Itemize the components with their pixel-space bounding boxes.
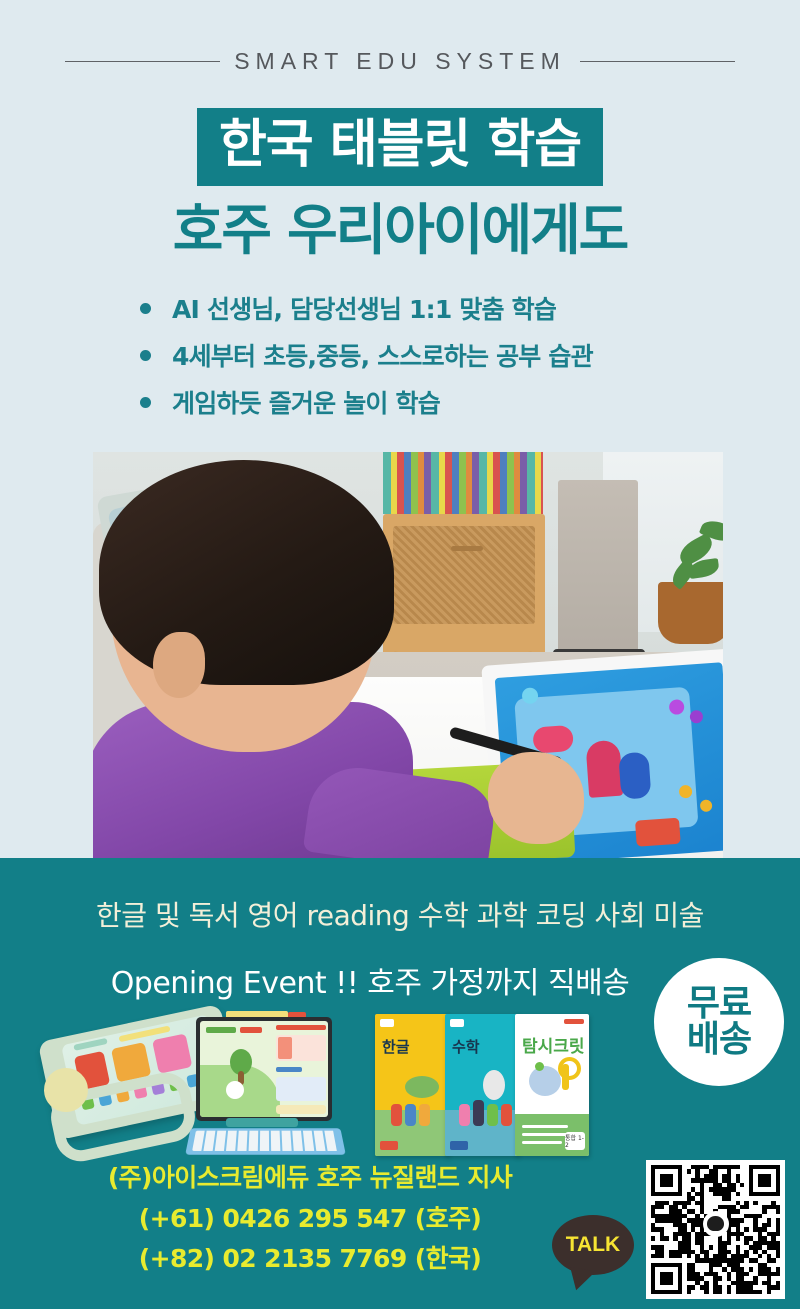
- photo-tablet-dot: [700, 799, 713, 812]
- bullet-dot-icon: [140, 397, 151, 408]
- photo-tablet-shape: [532, 725, 574, 754]
- workbook-title: 탐시크릿: [522, 1032, 585, 1057]
- workbook-kid: [405, 1104, 416, 1126]
- photo-plant-pot: [658, 582, 723, 644]
- keyboard-keys: [192, 1131, 339, 1151]
- eyebrow-text: SMART EDU SYSTEM: [234, 48, 566, 75]
- kakaotalk-label: TALK: [566, 1233, 620, 1257]
- photo-tablet-dot: [689, 710, 703, 724]
- photo-air-purifier: [558, 480, 638, 655]
- tablet-screen-frame: [196, 1017, 332, 1121]
- photo-bookshelf: [383, 452, 543, 514]
- photo-child-hair: [99, 460, 394, 685]
- feature-item: AI 선생님, 담당선생님 1:1 맞춤 학습: [140, 290, 700, 326]
- tablet-app-screen: [200, 1021, 328, 1117]
- workbook-secret: 탐시크릿 통합 1-2: [515, 1014, 589, 1156]
- feature-item-label: AI 선생님, 담당선생님 1:1 맞춤 학습: [172, 290, 556, 326]
- product-tablet-keyboard: [188, 1008, 343, 1158]
- feature-item: 게임하듯 즐거운 놀이 학습: [140, 384, 700, 420]
- workbook-tag: [380, 1141, 398, 1150]
- photo-tablet-shape: [635, 818, 681, 847]
- feature-item-label: 게임하듯 즐거운 놀이 학습: [172, 384, 440, 420]
- eyebrow-row: SMART EDU SYSTEM: [0, 44, 800, 78]
- qr-code[interactable]: [646, 1160, 785, 1299]
- photo-basket-handle: [451, 546, 483, 551]
- contact-phone-au[interactable]: (+61) 0426 295 547 (호주): [0, 1199, 620, 1240]
- contact-block: (주)아이스크림에듀 호주 뉴질랜드 지사 (+61) 0426 295 547…: [0, 1158, 620, 1280]
- photo-tablet-shape: [618, 752, 651, 800]
- photo-child-hand: [488, 752, 584, 844]
- product-workbooks: 한글 수학: [375, 1014, 605, 1156]
- workbook-kid: [419, 1104, 430, 1126]
- workbook-tag: [450, 1141, 468, 1150]
- promo-section: 한글 및 독서 영어 reading 수학 과학 코딩 사회 미술 Openin…: [0, 858, 800, 1309]
- workbook-kid: [459, 1104, 470, 1126]
- feature-item: 4세부터 초등,중등, 스스로하는 공부 습관: [140, 337, 700, 373]
- workbook-math: 수학: [445, 1014, 519, 1156]
- workbook-kid: [473, 1100, 484, 1126]
- bullet-dot-icon: [140, 350, 151, 361]
- photo-basket: [393, 526, 535, 624]
- contact-phone-kr[interactable]: (+82) 02 2135 7769 (한국): [0, 1239, 620, 1280]
- hero-photo: [93, 452, 723, 858]
- photo-tablet-shape: [585, 740, 623, 798]
- tablet-hinge: [226, 1118, 298, 1127]
- kakaotalk-icon: [703, 1211, 729, 1237]
- eyebrow-rule-right: [580, 61, 735, 62]
- workbook-title: 한글: [382, 1036, 410, 1057]
- workbook-kid: [487, 1104, 498, 1126]
- feature-list: AI 선생님, 담당선생님 1:1 맞춤 학습 4세부터 초등,중등, 스스로하…: [140, 290, 700, 431]
- workbook-hangul: 한글: [375, 1014, 449, 1156]
- product-strip: 한글 수학: [0, 1008, 800, 1160]
- headline-primary: 한국 태블릿 학습: [197, 108, 603, 186]
- feature-item-label: 4세부터 초등,중등, 스스로하는 공부 습관: [172, 337, 593, 373]
- event-line: Opening Event !! 호주 가정까지 직배송: [0, 958, 740, 1002]
- headline-primary-wrap: 한국 태블릿 학습: [0, 108, 800, 186]
- contact-company: (주)아이스크림에듀 호주 뉴질랜드 지사: [0, 1158, 620, 1199]
- workbook-grade: 통합 1-2: [565, 1132, 585, 1150]
- eyebrow-rule-left: [65, 61, 220, 62]
- photo-child-ear: [153, 632, 205, 698]
- workbook-kid: [501, 1104, 512, 1126]
- tablet-keyboard: [185, 1128, 346, 1155]
- headline-secondary: 호주 우리아이에게도: [0, 195, 800, 265]
- workbook-kid: [391, 1104, 402, 1126]
- workbook-title: 수학: [452, 1036, 480, 1057]
- subjects-line: 한글 및 독서 영어 reading 수학 과학 코딩 사회 미술: [0, 894, 800, 934]
- bullet-dot-icon: [140, 303, 151, 314]
- top-section: SMART EDU SYSTEM 한국 태블릿 학습 호주 우리아이에게도 AI…: [0, 0, 800, 858]
- poster-root: SMART EDU SYSTEM 한국 태블릿 학습 호주 우리아이에게도 AI…: [0, 0, 800, 1309]
- kakaotalk-bubble[interactable]: TALK: [552, 1215, 634, 1275]
